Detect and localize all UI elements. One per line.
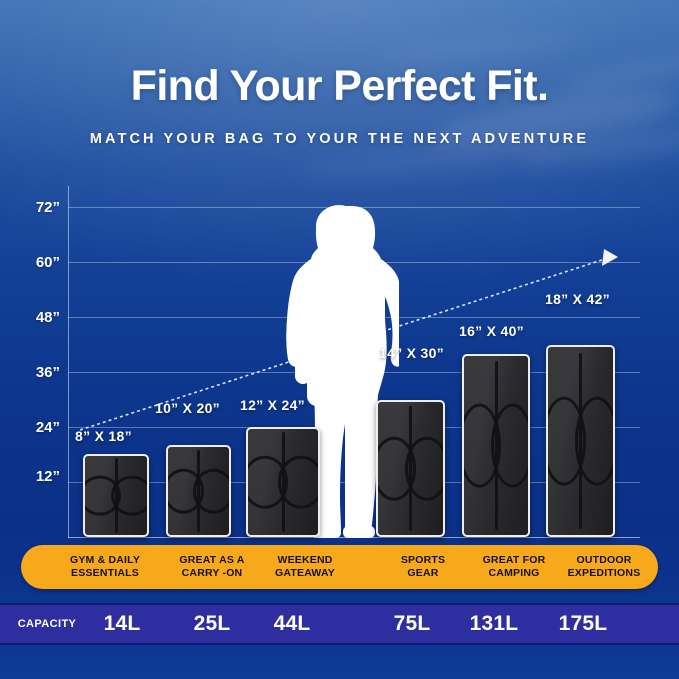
bag-zipper-icon: [197, 450, 200, 533]
bag-size-label-0: 8” X 18”: [75, 428, 132, 444]
y-tick-36: 36”: [4, 364, 60, 381]
bag-bar-5[interactable]: [546, 345, 615, 537]
use-case-3[interactable]: SPORTS GEAR: [373, 545, 473, 589]
capacity-label: CAPACITY: [8, 605, 86, 643]
bag-bar-2[interactable]: [246, 427, 320, 537]
capacity-value-2: 44L: [250, 605, 334, 643]
bag-bar-4[interactable]: [462, 354, 530, 537]
use-case-5[interactable]: OUTDOOR EXPEDITIONS: [549, 545, 659, 589]
use-case-bar: GYM & DAILY ESSENTIALS GREAT AS A CARRY …: [21, 545, 658, 589]
bag-bar-3[interactable]: [376, 400, 445, 537]
y-tick-72: 72”: [4, 199, 60, 216]
y-tick-12: 12”: [4, 468, 60, 485]
use-case-1-line2: CARRY -ON: [182, 567, 243, 579]
capacity-value-4: 131L: [452, 605, 536, 643]
use-case-3-line1: SPORTS: [401, 554, 445, 566]
bag-size-label-3: 14” X 30”: [379, 345, 444, 361]
capacity-value-5: 175L: [538, 605, 628, 643]
bag-size-label-4: 16” X 40”: [459, 323, 524, 339]
bag-zipper-icon: [115, 458, 118, 532]
use-case-2[interactable]: WEEKEND GATEAWAY: [247, 545, 363, 589]
use-case-2-line1: WEEKEND: [277, 554, 332, 566]
bag-zipper-icon: [579, 353, 582, 530]
use-case-5-line1: OUTDOOR: [576, 554, 631, 566]
bag-bar-0[interactable]: [83, 454, 149, 537]
capacity-value-0: 14L: [80, 605, 164, 643]
y-axis-line: [68, 186, 69, 538]
use-case-2-line2: GATEAWAY: [275, 567, 335, 579]
use-case-0[interactable]: GYM & DAILY ESSENTIALS: [45, 545, 165, 589]
use-case-3-line2: GEAR: [407, 567, 438, 579]
capacity-value-1: 25L: [170, 605, 254, 643]
bag-size-label-2: 12” X 24”: [240, 397, 305, 413]
capacity-bar: CAPACITY 14L 25L 44L 75L 131L 175L: [0, 603, 679, 645]
use-case-4-line1: GREAT FOR: [483, 554, 546, 566]
bag-zipper-icon: [495, 361, 498, 529]
y-tick-24: 24”: [4, 419, 60, 436]
use-case-0-line1: GYM & DAILY: [70, 554, 140, 566]
y-tick-60: 60”: [4, 254, 60, 271]
use-case-5-line2: EXPEDITIONS: [568, 567, 641, 579]
use-case-4-line2: CAMPING: [489, 567, 540, 579]
bag-zipper-icon: [409, 406, 412, 531]
bag-bar-1[interactable]: [166, 445, 231, 537]
bag-size-label-1: 10” X 20”: [155, 400, 220, 416]
bag-zipper-icon: [282, 432, 285, 532]
capacity-value-3: 75L: [370, 605, 454, 643]
y-tick-48: 48”: [4, 309, 60, 326]
use-case-1-line1: GREAT AS A: [179, 554, 244, 566]
infographic-canvas: Find Your Perfect Fit. MATCH YOUR BAG TO…: [0, 0, 679, 679]
bag-size-label-5: 18” X 42”: [545, 291, 610, 307]
use-case-0-line2: ESSENTIALS: [71, 567, 139, 579]
